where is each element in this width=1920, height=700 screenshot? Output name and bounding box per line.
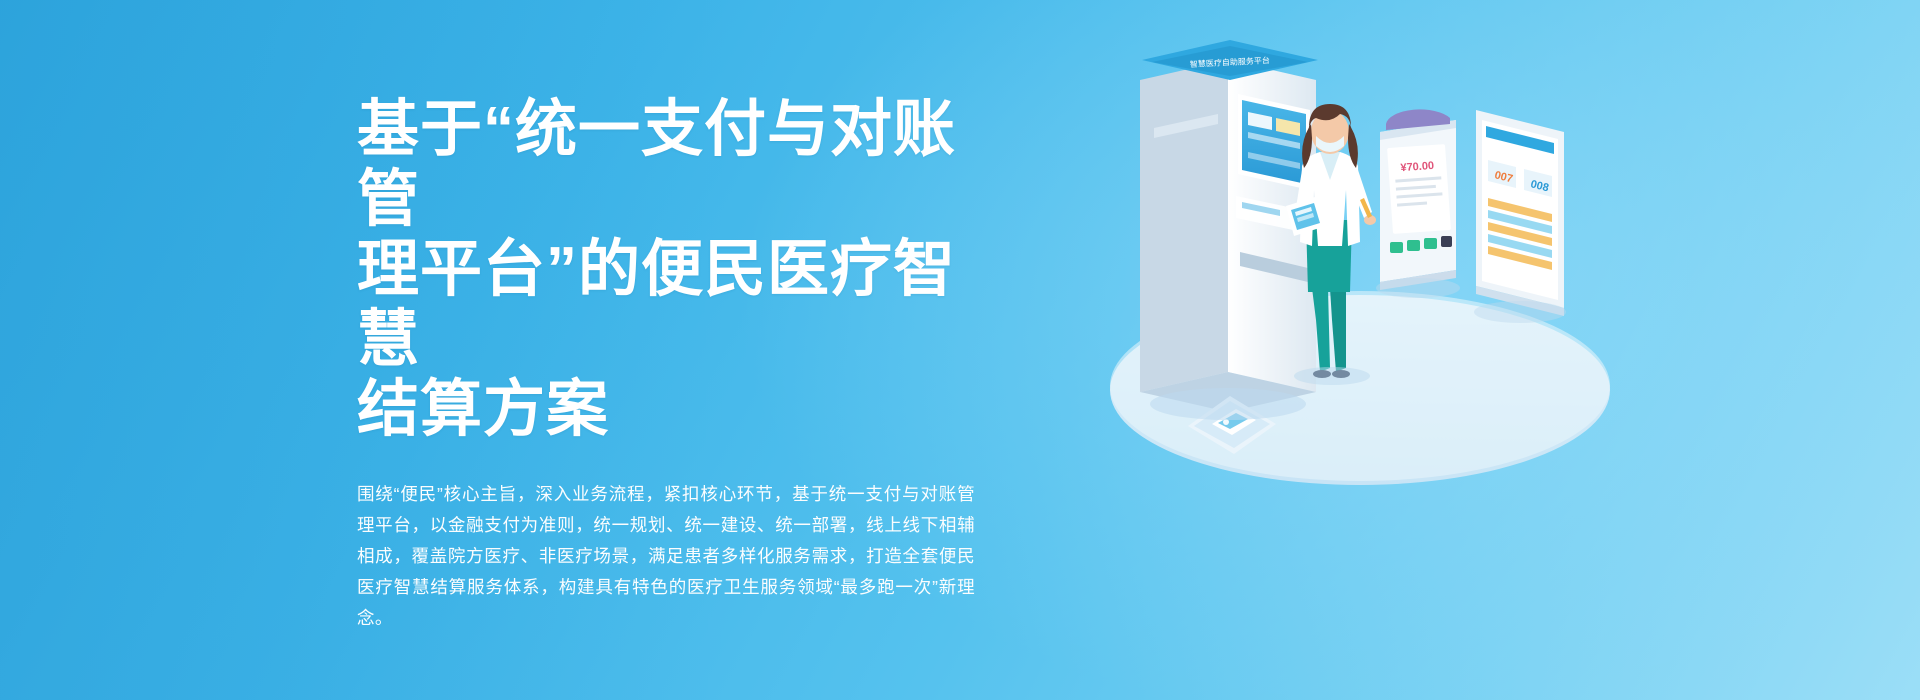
- device-shadow: [1376, 278, 1460, 298]
- board-shadow: [1474, 301, 1566, 323]
- kiosk-shadow: [1150, 388, 1306, 420]
- receipt-payment-device[interactable]: ¥70.00: [1380, 109, 1456, 290]
- queue-display-board[interactable]: 007 008: [1476, 110, 1564, 316]
- self-service-kiosk[interactable]: 智慧医疗自助服务平台: [1140, 40, 1318, 412]
- hero-banner: 基于“统一支付与对账管 理平台”的便民医疗智慧 结算方案 围绕“便民”核心主旨，…: [0, 0, 1920, 700]
- hero-text-block: 基于“统一支付与对账管 理平台”的便民医疗智慧 结算方案 围绕“便民”核心主旨，…: [357, 95, 997, 634]
- page-title: 基于“统一支付与对账管 理平台”的便民医疗智慧 结算方案: [357, 95, 997, 445]
- hero-description: 围绕“便民”核心主旨，深入业务流程，紧扣核心环节，基于统一支付与对账管理平台，以…: [357, 479, 975, 634]
- hero-illustration: 智慧医疗自助服务平台: [1080, 20, 1640, 580]
- doctor-shadow: [1294, 367, 1370, 385]
- receipt-amount: ¥70.00: [1400, 160, 1434, 174]
